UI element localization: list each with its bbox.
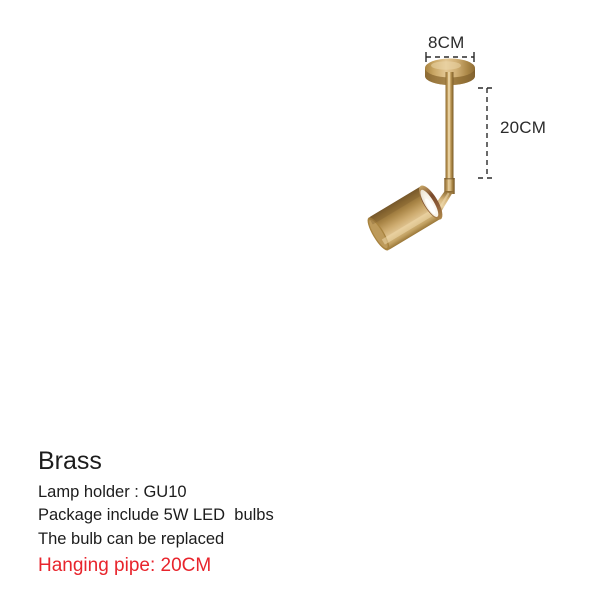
spec-lamp-holder: Lamp holder : GU10 bbox=[38, 481, 358, 504]
pipe-height-label: 20CM bbox=[500, 118, 546, 138]
material-title: Brass bbox=[38, 448, 358, 475]
spec-bulb-replaceable: The bulb can be replaced bbox=[38, 528, 358, 551]
hanging-rod bbox=[444, 72, 454, 194]
spotlight-head bbox=[364, 182, 447, 253]
canopy-width-label: 8CM bbox=[428, 33, 465, 53]
spec-hanging-pipe: Hanging pipe: 20CM bbox=[38, 552, 358, 580]
height-dimension-line bbox=[478, 88, 496, 178]
product-description: Brass Lamp holder : GU10 Package include… bbox=[38, 448, 358, 580]
spec-package-contents: Package include 5W LED bulbs bbox=[38, 504, 358, 527]
